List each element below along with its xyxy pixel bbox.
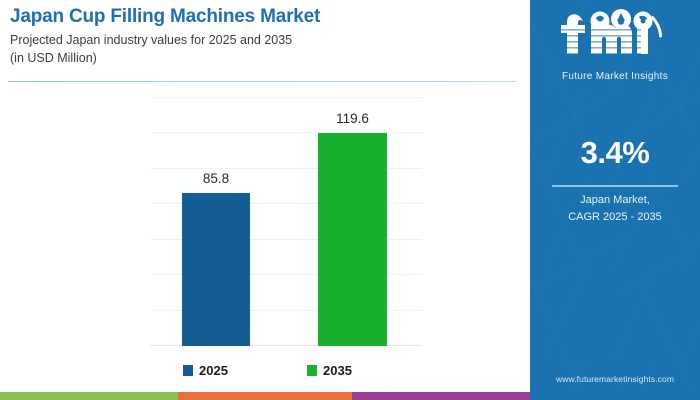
gridline (150, 97, 422, 98)
chart-legend: 2025 2035 (150, 363, 422, 378)
legend-swatch-2025 (183, 365, 193, 376)
cagr-caption-line-1: Japan Market, (530, 192, 700, 209)
bar-value-2025: 85.8 (203, 171, 229, 186)
chart-units-label: (in USD Million) (10, 49, 510, 67)
cagr-divider (552, 185, 678, 187)
page-title: Japan Cup Filling Machines Market (10, 6, 510, 28)
legend-label-2035: 2035 (323, 363, 352, 378)
bar-2035[interactable]: 119.6 (318, 133, 387, 346)
infographic-container: Japan Cup Filling Machines Market Projec… (0, 0, 700, 400)
fmi-logo-icon (553, 8, 677, 70)
brand-sidebar: Future Market Insights 3.4% Japan Market… (530, 0, 700, 392)
accent-segment-blue (530, 392, 700, 400)
chart-panel: Japan Cup Filling Machines Market Projec… (0, 0, 530, 392)
legend-label-2025: 2025 (199, 363, 228, 378)
fmi-logo-tagline: Future Market Insights (530, 71, 700, 82)
accent-segment-orange (178, 392, 352, 400)
chart-header: Japan Cup Filling Machines Market Projec… (10, 6, 510, 67)
accent-segment-purple (352, 392, 530, 400)
chart-subtitle: Projected Japan industry values for 2025… (10, 31, 510, 49)
bar-2025[interactable]: 85.8 (182, 193, 250, 346)
bar-chart-plot-area: 85.8 119.6 (150, 97, 422, 346)
fmi-logo: Future Market Insights (530, 8, 700, 82)
bar-value-2035: 119.6 (336, 111, 369, 126)
cagr-caption-line-2: CAGR 2025 - 2035 (530, 209, 700, 226)
website-url[interactable]: www.futuremarketinsights.com (530, 374, 700, 384)
accent-strip (0, 392, 700, 400)
legend-item-2035[interactable]: 2035 (286, 363, 422, 378)
legend-item-2025[interactable]: 2025 (150, 363, 286, 378)
header-divider (8, 81, 516, 82)
accent-segment-green (0, 392, 178, 400)
cagr-caption: Japan Market, CAGR 2025 - 2035 (530, 192, 700, 225)
legend-swatch-2035 (307, 365, 317, 376)
cagr-value: 3.4% (530, 135, 700, 171)
